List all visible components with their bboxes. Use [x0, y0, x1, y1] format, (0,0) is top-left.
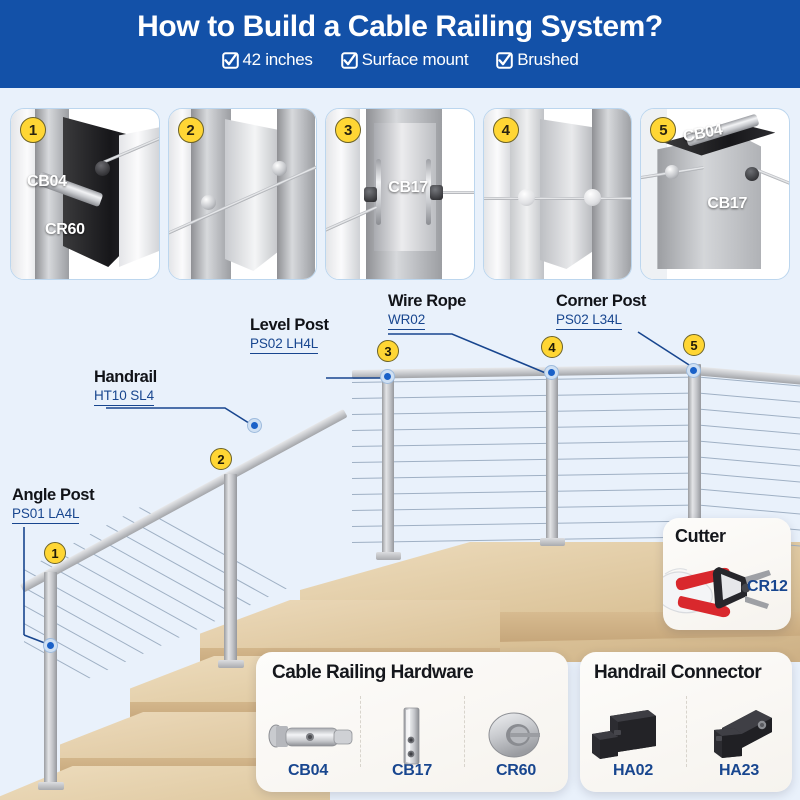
cutter-code: CR12	[747, 578, 788, 596]
callout-title: Corner Post	[556, 292, 646, 311]
callout-code: PS01 LA4L	[12, 505, 79, 524]
connector-card[interactable]: Handrail Connector HA02	[580, 652, 792, 792]
checkbox-checked-icon	[341, 52, 358, 69]
product-code: CR60	[496, 762, 536, 780]
spec-label: Brushed	[517, 50, 578, 70]
callout-title: Handrail	[94, 368, 157, 387]
callout-wire-rope: Wire Rope WR02	[388, 292, 466, 330]
connector-dot-4	[545, 366, 558, 379]
ha23-illustration	[686, 706, 792, 762]
product-item-cb17[interactable]: CB17	[360, 690, 464, 786]
diagram-marker-3: 3	[377, 340, 399, 362]
diagram-marker-5: 5	[683, 334, 705, 356]
page-header: How to Build a Cable Railing System? 42 …	[0, 0, 800, 88]
callout-angle-post: Angle Post PS01 LA4L	[12, 486, 94, 524]
cutter-card[interactable]: Cutter CR12	[663, 518, 791, 630]
product-code: HA23	[719, 762, 759, 780]
cb04-illustration	[256, 706, 360, 762]
checkbox-checked-icon	[222, 52, 239, 69]
callout-corner-post: Corner Post PS02 L34L	[556, 292, 646, 330]
product-item-cr60[interactable]: CR60	[464, 690, 568, 786]
connector-dot-5	[687, 364, 700, 377]
callout-code: PS02 L34L	[556, 311, 622, 330]
spec-item-mount: Surface mount	[341, 50, 469, 70]
connector-dot-3	[381, 370, 394, 383]
spec-label: Surface mount	[362, 50, 469, 70]
callout-handrail: Handrail HT10 SL4	[94, 368, 157, 406]
step-number-badge: 3	[335, 117, 361, 143]
spec-item-finish: Brushed	[496, 50, 578, 70]
callout-title: Level Post	[250, 316, 329, 335]
callout-code: WR02	[388, 311, 425, 330]
step-number-badge: 1	[20, 117, 46, 143]
step-panel-2[interactable]: 2	[168, 108, 318, 280]
spec-label: 42 inches	[243, 50, 313, 70]
step-panel-1[interactable]: 1 CB04 CR60	[10, 108, 160, 280]
connector-card-title: Handrail Connector	[594, 662, 761, 684]
callout-title: Wire Rope	[388, 292, 466, 311]
step-number-badge: 2	[178, 117, 204, 143]
step-number-badge: 4	[493, 117, 519, 143]
spec-item-height: 42 inches	[222, 50, 313, 70]
page-title: How to Build a Cable Railing System?	[137, 6, 663, 48]
product-code: HA02	[613, 762, 653, 780]
ha02-illustration	[580, 706, 686, 762]
connector-dot-1	[44, 639, 57, 652]
diagram-marker-2: 2	[210, 448, 232, 470]
callout-code: PS02 LH4L	[250, 335, 318, 354]
cb17-illustration	[360, 706, 464, 762]
step-panels: 1 CB04 CR60 2 3 CB17	[10, 108, 790, 280]
step-tag-cr60: CR60	[45, 221, 85, 239]
product-item-ha23[interactable]: HA23	[686, 690, 792, 786]
diagram-marker-4: 4	[541, 336, 563, 358]
step-tag-cb17: CB17	[388, 179, 428, 197]
connector-dot-2	[248, 419, 261, 432]
diagram-marker-1: 1	[44, 542, 66, 564]
hardware-card-title: Cable Railing Hardware	[272, 662, 473, 684]
step-panel-5[interactable]: 5 CB04 CB17	[640, 108, 790, 280]
spec-list: 42 inches Surface mount Brushed	[222, 50, 579, 70]
step-panel-4[interactable]: 4	[483, 108, 633, 280]
callout-code: HT10 SL4	[94, 387, 154, 406]
product-item-cb04[interactable]: CB04	[256, 690, 360, 786]
callout-title: Angle Post	[12, 486, 94, 505]
product-item-ha02[interactable]: HA02	[580, 690, 686, 786]
cr60-illustration	[464, 706, 568, 762]
railing-diagram: 1 2 3 4 5 Angle Post PS01 LA4L Handrail …	[0, 282, 800, 800]
step-panel-3[interactable]: 3 CB17	[325, 108, 475, 280]
step-tag-cb17: CB17	[707, 195, 747, 213]
hardware-card[interactable]: Cable Railing Hardware	[256, 652, 568, 792]
callout-level-post: Level Post PS02 LH4L	[250, 316, 329, 354]
checkbox-checked-icon	[496, 52, 513, 69]
step-tag-cb04: CB04	[27, 173, 67, 191]
